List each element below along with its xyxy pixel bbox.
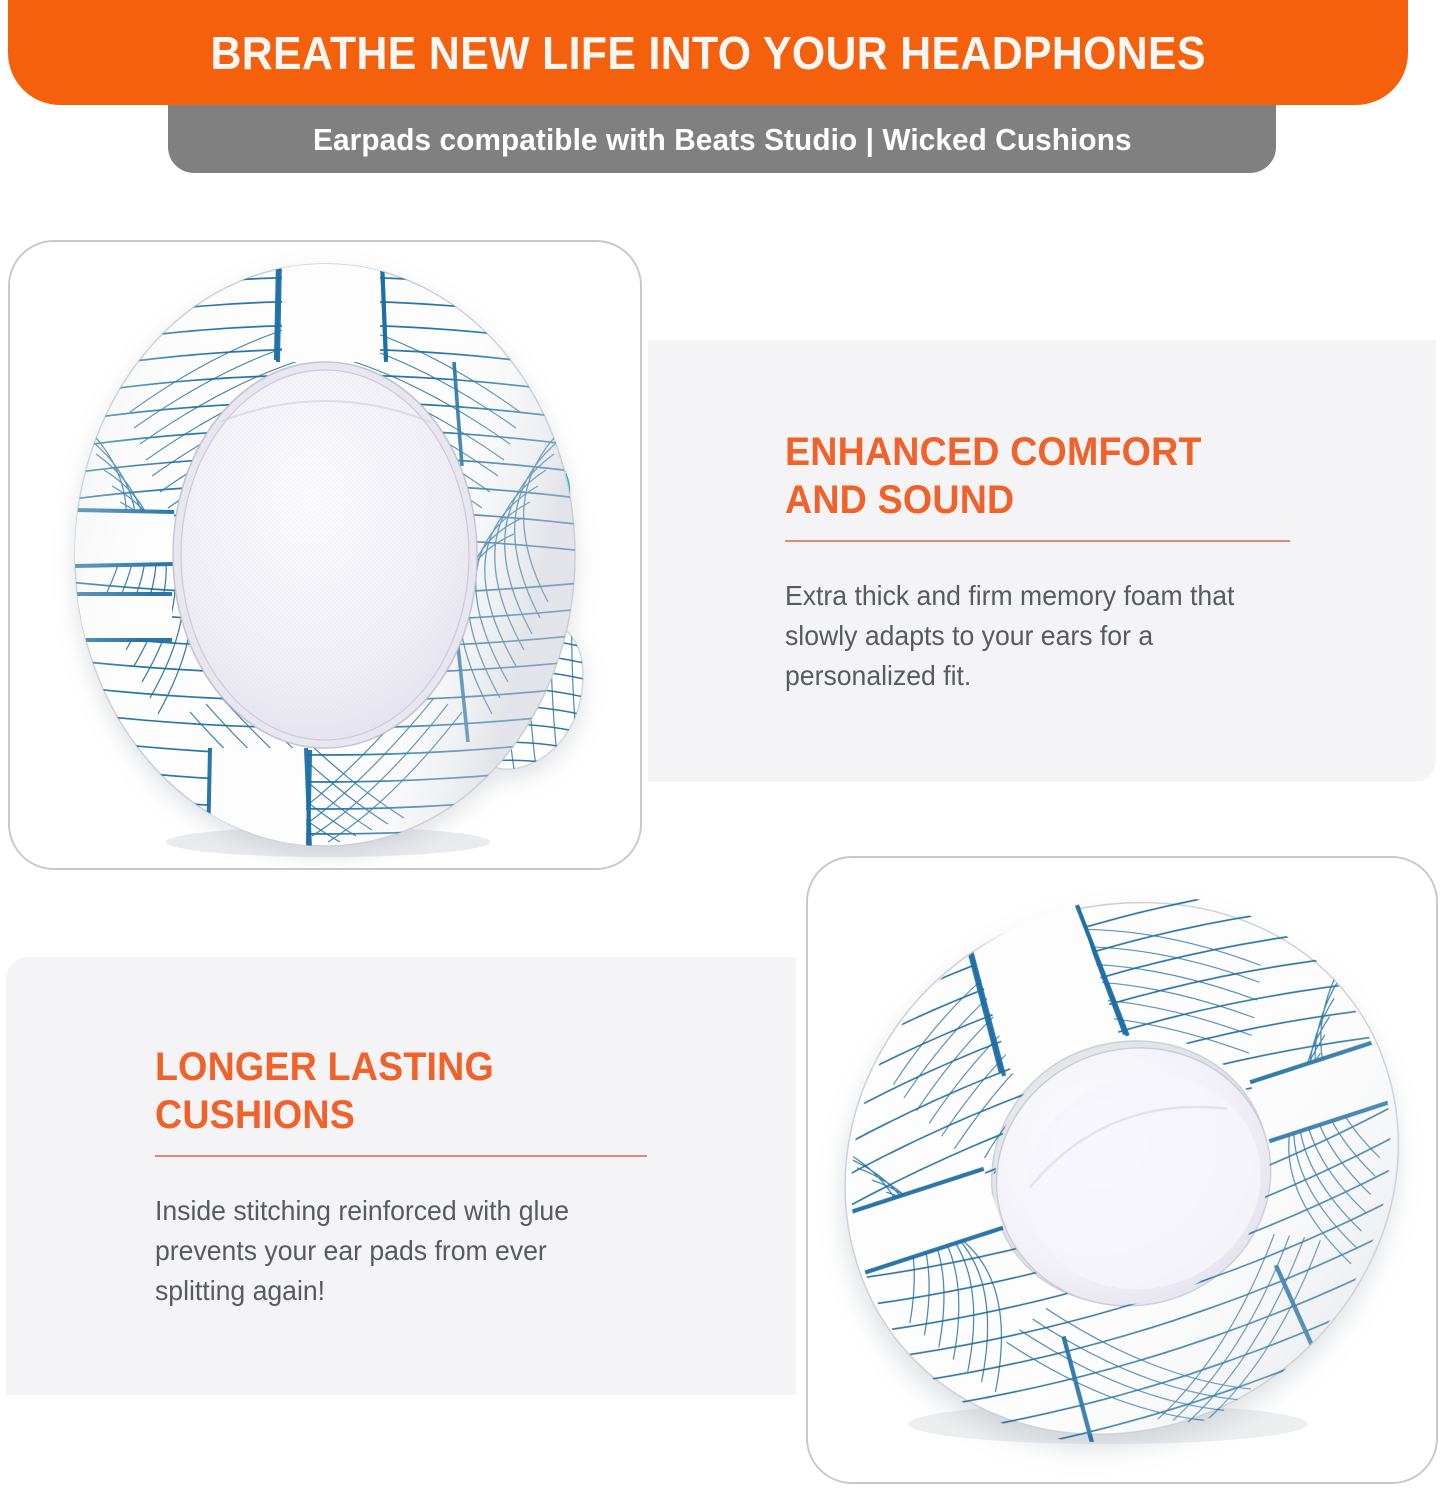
product-photo-card-angled: [806, 856, 1438, 1484]
feature-title-line1: ENHANCED COMFORT: [785, 428, 1274, 476]
feature-block-longer-lasting: LONGER LASTING CUSHIONS Inside stitching…: [155, 1043, 655, 1310]
feature-title-line1: LONGER LASTING: [155, 1043, 625, 1091]
earpad-front-cutaway-image: [10, 242, 640, 868]
header-subtitle-bar: Earpads compatible with Beats Studio | W…: [168, 105, 1276, 173]
page-title: BREATHE NEW LIFE INTO YOUR HEADPHONES: [210, 30, 1205, 76]
feature-title-line2: AND SOUND: [785, 476, 1274, 524]
feature-block-enhanced-comfort: ENHANCED COMFORT AND SOUND Extra thick a…: [785, 428, 1305, 695]
feature-body-text: Inside stitching reinforced with glue pr…: [155, 1191, 630, 1310]
feature-divider: [785, 540, 1290, 542]
product-infographic: BREATHE NEW LIFE INTO YOUR HEADPHONES Ea…: [0, 0, 1445, 1500]
earpad-angled-ring-image: [808, 858, 1436, 1482]
feature-title-line2: CUSHIONS: [155, 1091, 625, 1139]
feature-divider: [155, 1155, 647, 1157]
feature-body-text: Extra thick and firm memory foam that sl…: [785, 576, 1279, 695]
header-banner: BREATHE NEW LIFE INTO YOUR HEADPHONES: [8, 0, 1408, 105]
page-subtitle: Earpads compatible with Beats Studio | W…: [313, 124, 1132, 155]
product-photo-card-front: [8, 240, 642, 870]
